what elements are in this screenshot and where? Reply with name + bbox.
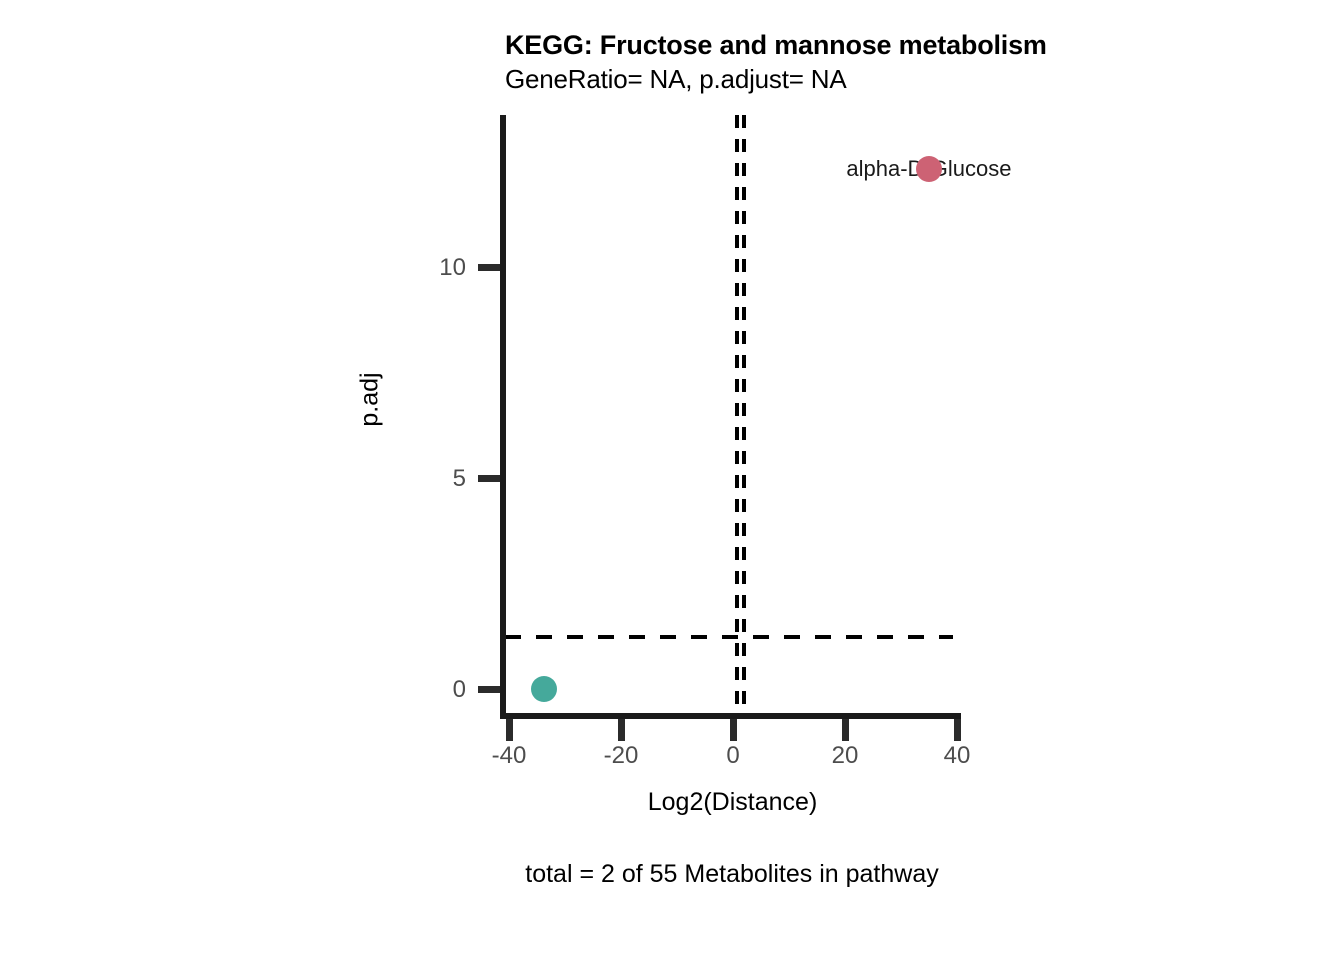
y-tick-label-2: 10 (406, 256, 466, 280)
x-tick-label-3: 20 (785, 743, 905, 769)
x-tick-mark-3 (842, 719, 849, 741)
y-tick-label-0: 0 (406, 678, 466, 702)
plot-panel (505, 115, 960, 716)
y-tick-mark-2 (478, 264, 500, 271)
y-tick-mark-0 (478, 686, 500, 693)
data-point-0[interactable] (531, 676, 557, 702)
page-title: KEGG: Fructose and mannose metabolism (505, 28, 1205, 62)
x-tick-mark-1 (618, 719, 625, 741)
y-tick-mark-1 (478, 475, 500, 482)
data-point-1[interactable] (916, 156, 942, 182)
reference-line-zero-left (735, 115, 739, 716)
x-tick-label-4: 40 (897, 743, 1017, 769)
y-tick-label-1: 5 (406, 467, 466, 491)
x-tick-label-2: 0 (673, 743, 793, 769)
kegg-scatter-figure: KEGG: Fructose and mannose metabolism Ge… (0, 0, 1344, 960)
x-tick-label-0: -40 (449, 743, 569, 769)
x-tick-mark-2 (730, 719, 737, 741)
x-axis-title: Log2(Distance) (505, 788, 960, 817)
y-axis-line (500, 115, 506, 719)
x-tick-label-1: -20 (561, 743, 681, 769)
x-tick-mark-4 (954, 719, 961, 741)
title-block: KEGG: Fructose and mannose metabolism Ge… (505, 28, 1205, 96)
x-tick-mark-0 (506, 719, 513, 741)
reference-line-zero-right (742, 115, 746, 716)
figure-caption: total = 2 of 55 Metabolites in pathway (372, 860, 1092, 889)
chart-subtitle: GeneRatio= NA, p.adjust= NA (505, 62, 1205, 96)
reference-line-significance-threshold (505, 635, 953, 639)
y-axis-title: p.adj (356, 330, 385, 470)
